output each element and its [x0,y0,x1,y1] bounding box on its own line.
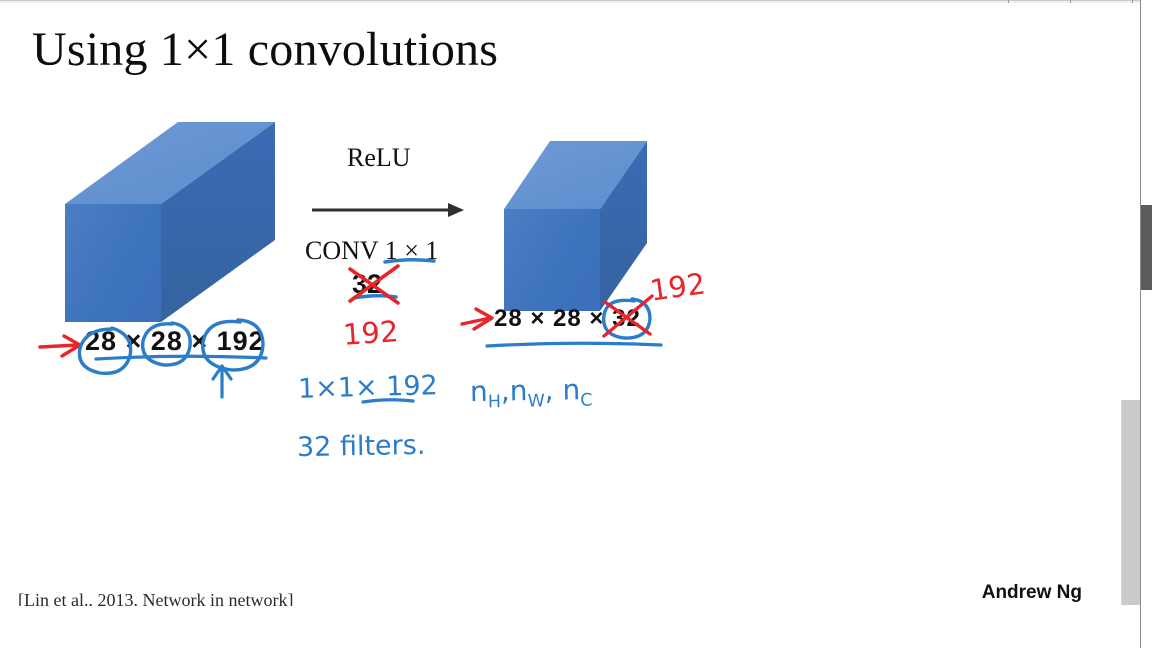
secondary-scrollbar-thumb[interactable] [1121,400,1140,605]
input-volume-dimensions-label: 28 × 28 × 192 [85,326,265,357]
author-name: Andrew Ng [982,582,1082,604]
blue-note-dimension-names: nH,nW, nC [470,373,593,413]
conv-filter-count-label: 32 [352,269,382,300]
red-note-corrected-channels: 192 [648,266,708,307]
blue-note-filter-size: 1×1× 192 [298,370,438,405]
output-volume-dimensions-label: 28 × 28 × 32 [494,305,641,333]
vertical-scrollbar-thumb[interactable] [1141,205,1152,290]
vertical-scrollbar-track[interactable] [1141,0,1152,648]
viewer-top-rule [0,0,1142,3]
input-volume-box [65,122,275,322]
citation-text: [Lin et al., 2013. Network in network] [18,590,293,606]
output-volume-front-face [504,209,600,311]
page-title: Using 1×1 convolutions [32,24,498,76]
input-volume-front-face [65,204,161,322]
blue-note-filter-count: 32 filters. [297,430,426,463]
n-w-symbol: nW [509,374,544,408]
up-arrow-to-192 [213,366,231,397]
relu-label: ReLU [347,143,411,173]
red-arrow-right [462,309,492,329]
slide-viewer: Using 1×1 convolutions ReLU CONV 1 × 1 2… [0,0,1152,648]
red-note-corrected-filters: 192 [342,314,400,352]
n-c-symbol: nC [562,373,592,407]
output-volume-box [504,141,647,311]
n-h-symbol: nH [470,375,501,409]
slide-canvas: Using 1×1 convolutions ReLU CONV 1 × 1 2… [0,4,1140,606]
conv-label: CONV 1 × 1 [305,236,438,266]
relu-flow-arrow [312,203,464,217]
red-arrow-left [40,336,80,356]
right-dims-underline [487,343,661,346]
